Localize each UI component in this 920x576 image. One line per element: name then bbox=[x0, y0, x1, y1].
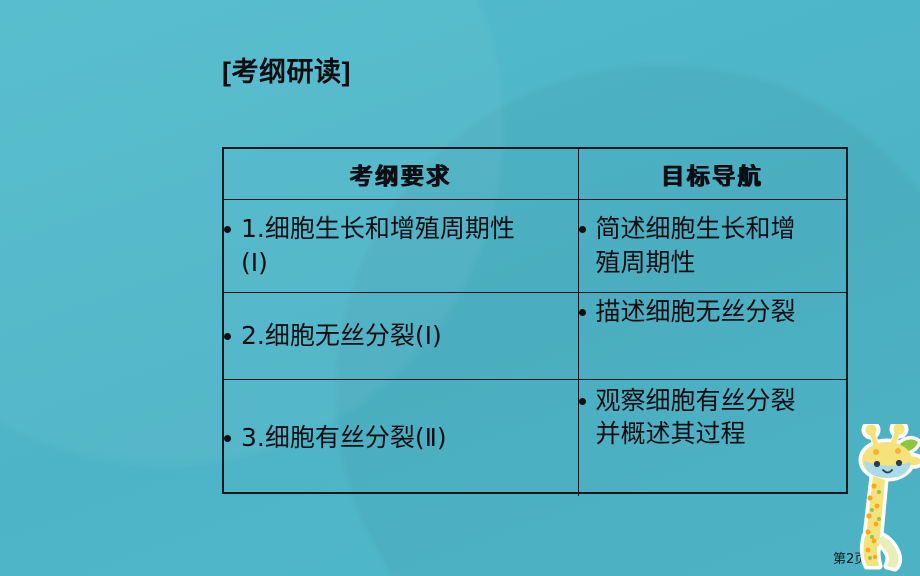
requirement-text: 3.细胞有丝分裂(Ⅱ) bbox=[241, 421, 541, 455]
column-header-label: 考纲要求 bbox=[224, 157, 578, 191]
bullet-icon bbox=[579, 226, 586, 233]
bullet-icon bbox=[579, 309, 586, 316]
objective-text: 描述细胞无丝分裂 bbox=[596, 295, 801, 329]
table-row: 3.细胞有丝分裂(Ⅱ) 观察细胞有丝分裂并概述其过程 bbox=[224, 379, 846, 496]
table-row: 2.细胞无丝分裂(Ⅰ) 描述细胞无丝分裂 bbox=[224, 292, 846, 379]
table-cell-requirement: 3.细胞有丝分裂(Ⅱ) bbox=[224, 379, 578, 496]
page-title: [考纲研读] bbox=[222, 58, 351, 88]
table-cell-objective: 简述细胞生长和增殖周期性 bbox=[578, 199, 846, 292]
syllabus-table: 考纲要求 目标导航 1.细胞生长和增殖周期性(Ⅰ) bbox=[222, 147, 848, 494]
table-cell-objective: 描述细胞无丝分裂 bbox=[578, 292, 846, 379]
column-header-label: 目标导航 bbox=[579, 157, 847, 191]
slide-canvas: [考纲研读] 考纲要求 目标导航 bbox=[0, 0, 920, 576]
table-cell-objective: 观察细胞有丝分裂并概述其过程 bbox=[578, 379, 846, 496]
bullet-icon bbox=[224, 333, 231, 340]
bullet-icon bbox=[224, 435, 231, 442]
requirement-text: 1.细胞生长和增殖周期性(Ⅰ) bbox=[241, 212, 541, 279]
table-cell-requirement: 1.细胞生长和增殖周期性(Ⅰ) bbox=[224, 199, 578, 292]
table-header-row: 考纲要求 目标导航 bbox=[224, 149, 846, 199]
giraffe-icon bbox=[843, 424, 920, 576]
table-header-cell-requirement: 考纲要求 bbox=[224, 149, 578, 199]
objective-text: 简述细胞生长和增殖周期性 bbox=[596, 212, 801, 279]
objective-text: 观察细胞有丝分裂并概述其过程 bbox=[596, 384, 801, 451]
table-header-cell-objective: 目标导航 bbox=[578, 149, 846, 199]
bullet-icon bbox=[579, 398, 586, 405]
requirement-text: 2.细胞无丝分裂(Ⅰ) bbox=[241, 319, 541, 353]
table-row: 1.细胞生长和增殖周期性(Ⅰ) 简述细胞生长和增殖周期性 bbox=[224, 199, 846, 292]
table-cell-requirement: 2.细胞无丝分裂(Ⅰ) bbox=[224, 292, 578, 379]
bullet-icon bbox=[224, 226, 231, 233]
